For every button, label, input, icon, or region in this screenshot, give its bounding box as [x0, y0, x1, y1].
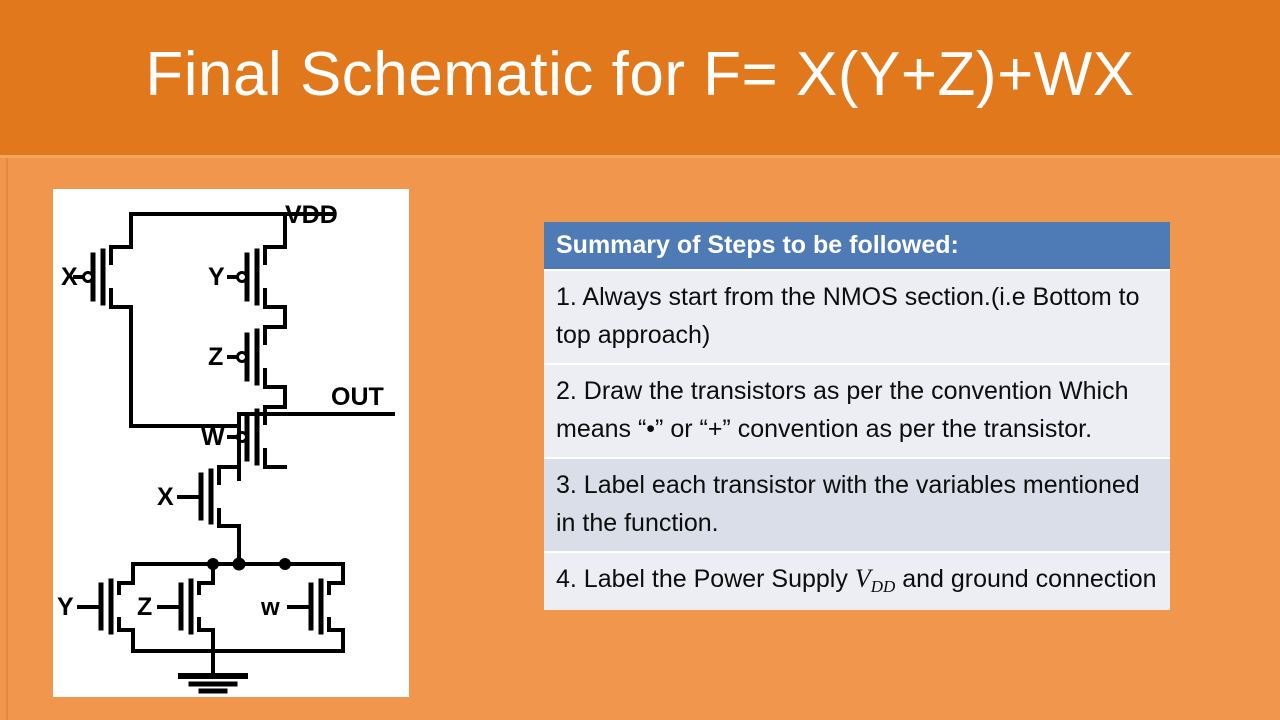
- pmos-x-label: X: [61, 263, 78, 291]
- slide-canvas: Final Schematic for F= X(Y+Z)+WX: [0, 0, 1280, 720]
- page-title: Final Schematic for F= X(Y+Z)+WX: [0, 36, 1280, 114]
- pmos-z-inversion-bubble: [238, 353, 247, 362]
- step-4-vdd-letter: V: [855, 564, 871, 593]
- step-1-cell: 1. Always start from the NMOS section.(i…: [544, 271, 1170, 363]
- step-4-vdd-symbol: VDD: [855, 564, 895, 593]
- pmos-z-label: Z: [208, 343, 223, 371]
- step-4-prefix: 4. Label the Power Supply: [556, 565, 855, 593]
- body-top-rule: [0, 155, 1280, 158]
- nmos-x-label: X: [157, 483, 174, 511]
- out-label: OUT: [331, 383, 384, 411]
- table-row: 1. Always start from the NMOS section.(i…: [544, 271, 1170, 363]
- table-row: 2. Draw the transistors as per the conve…: [544, 365, 1170, 457]
- step-2-cell: 2. Draw the transistors as per the conve…: [544, 365, 1170, 457]
- step-4-cell: 4. Label the Power Supply VDD and ground…: [544, 553, 1170, 610]
- vdd-label: VDD: [285, 201, 338, 229]
- step-4-suffix: and ground connection: [895, 565, 1156, 593]
- pmos-w-label: W: [201, 423, 225, 451]
- pmos-y-label: Y: [208, 263, 225, 291]
- summary-of-steps-table: Summary of Steps to be followed: 1. Alwa…: [544, 222, 1170, 610]
- table-header-row: Summary of Steps to be followed:: [544, 222, 1170, 269]
- nmos-y-label: Y: [57, 593, 74, 621]
- junction-dot-z: [207, 558, 219, 570]
- table-header-cell: Summary of Steps to be followed:: [544, 222, 1170, 269]
- schematic-panel: X Y: [53, 189, 409, 697]
- nmos-w-label: w: [260, 594, 280, 621]
- pmos-y-inversion-bubble: [238, 273, 247, 282]
- table-row: 4. Label the Power Supply VDD and ground…: [544, 553, 1170, 610]
- junction-dot-x-drain: [233, 558, 246, 571]
- cmos-schematic-diagram: X Y: [53, 189, 409, 697]
- pmos-x-inversion-bubble: [84, 273, 93, 282]
- table-row: 3. Label each transistor with the variab…: [544, 459, 1170, 551]
- body-left-rule: [6, 158, 8, 720]
- step-3-cell: 3. Label each transistor with the variab…: [544, 459, 1170, 551]
- nmos-z-label: Z: [137, 593, 152, 621]
- step-4-vdd-subscript: DD: [871, 577, 896, 596]
- junction-dot-w: [279, 558, 291, 570]
